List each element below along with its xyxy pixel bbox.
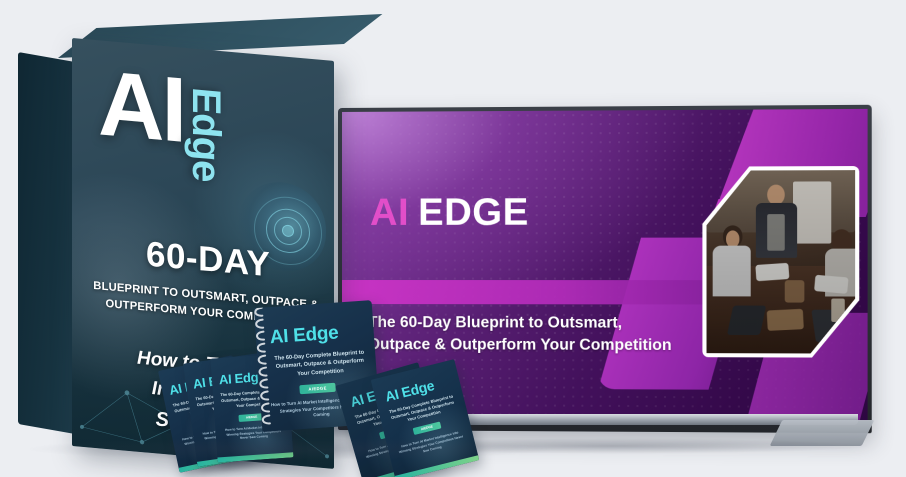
box-side-face (18, 52, 80, 435)
tv-subtitle-line-1: The 60-Day Blueprint to Outsmart, (368, 312, 702, 335)
photo-vignette (707, 170, 856, 353)
floor-shadow (30, 438, 550, 460)
box-title-edge: Edge (183, 86, 228, 184)
tv-subtitle-line-2: Outpace & Outperform Your Competition (368, 334, 702, 357)
tv-headline: AIEDGE (370, 193, 529, 231)
box-title-ai: AI (98, 62, 184, 152)
tv-headline-ai: AI (370, 192, 409, 234)
tv-headline-edge: EDGE (418, 191, 529, 233)
tv-subtitle: The 60-Day Blueprint to Outsmart, Outpac… (368, 312, 702, 357)
magenta-accent-band (342, 280, 744, 305)
business-meeting-photo (707, 170, 856, 353)
product-mockup-scene: AIEDGE The 60-Day Blueprint to Outsmart,… (0, 0, 906, 477)
